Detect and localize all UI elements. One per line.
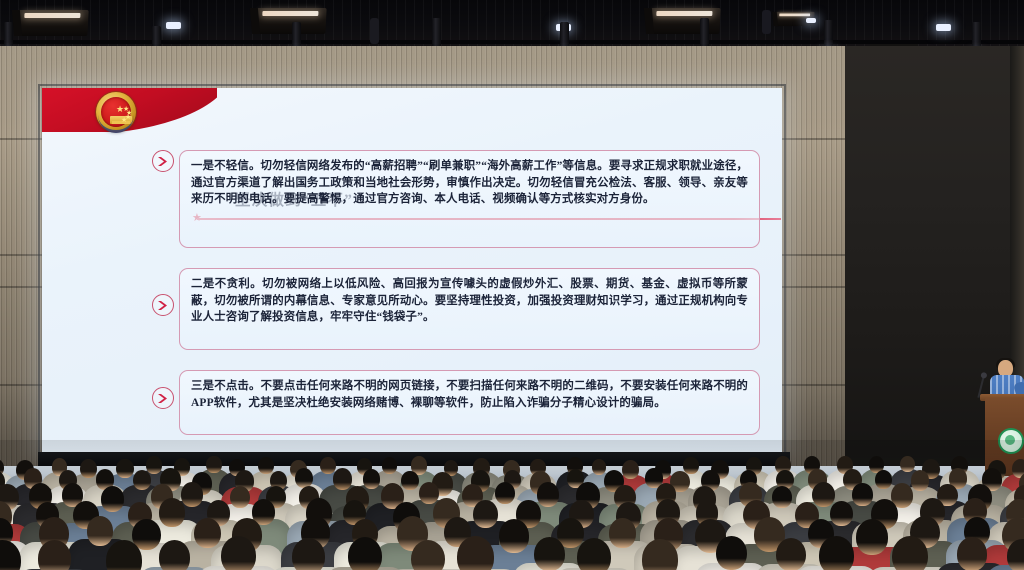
- stage-light-fixture: [255, 8, 326, 34]
- audience-member-head: [716, 536, 747, 570]
- audience-member-head: [106, 540, 142, 570]
- hanging-speaker: [762, 10, 771, 34]
- audience-member-head: [577, 538, 611, 570]
- audience-member-head: [1007, 539, 1024, 570]
- slide-point-box: 一是不轻信。切勿轻信网络发布的“高薪招聘”“刷单兼职”“海外高薪工作”等信息。要…: [179, 150, 760, 248]
- slide-point-box: 三是不点击。不要点击任何来路不明的网页链接，不要扫描任何来路不明的二维码，不要安…: [179, 370, 760, 435]
- projection-screen[interactable]: ★ ★ ★ ★ ★ 坚决做到“五不” ★ 一是不轻信。切勿轻信网络发布的“高薪招…: [42, 88, 782, 456]
- audience-member-head: [159, 540, 190, 570]
- slide-point-text: 一是不轻信。切勿轻信网络发布的“高薪招聘”“刷单兼职”“海外高薪工作”等信息。要…: [191, 158, 748, 208]
- audience-member-head: [221, 536, 256, 570]
- stage-light-fixture: [17, 10, 88, 36]
- chevron-right-circle-icon: [152, 387, 174, 409]
- audience: DON'T ED CLOTHE: [0, 440, 1024, 570]
- ceiling-spotlight: [936, 24, 951, 31]
- slide-point-text: 三是不点击。不要点击任何来路不明的网页链接，不要扫描任何来路不明的二维码，不要安…: [191, 378, 748, 411]
- slide-point-box: 二是不贪利。切勿被网络上以低风险、高回报为宣传噱头的虚假炒外汇、股票、期货、基金…: [179, 268, 760, 350]
- audience-member-head: [642, 539, 679, 570]
- stage-light-fixture: [649, 8, 720, 34]
- audience-member: [795, 536, 878, 570]
- audience-member-head: [457, 536, 494, 570]
- audience-member: [986, 539, 1024, 570]
- audience-member: [431, 536, 520, 570]
- lecture-hall-photo: ★ ★ ★ ★ ★ 坚决做到“五不” ★ 一是不轻信。切勿轻信网络发布的“高薪招…: [0, 0, 1024, 570]
- audience-member-head: [957, 537, 987, 570]
- hanging-speaker: [370, 18, 379, 44]
- audience-member-head: [819, 536, 854, 570]
- audience-member: [197, 536, 280, 570]
- ceiling-spotlight: [806, 18, 816, 23]
- ceiling-spotlight: [166, 22, 181, 29]
- slide-point-text: 二是不贪利。切勿被网络上以低风险、高回报为宣传噱头的虚假炒外汇、股票、期货、基金…: [191, 276, 748, 326]
- audience-member-head: [892, 536, 928, 570]
- china-police-national-emblem-icon: ★ ★ ★ ★ ★: [96, 92, 136, 132]
- audience-member-head: [38, 540, 70, 570]
- chevron-right-circle-icon: [152, 294, 174, 316]
- audience-member: [616, 539, 704, 570]
- chevron-right-circle-icon: [152, 150, 174, 172]
- audience-member-head: [348, 537, 382, 570]
- audience-member-head: [292, 538, 325, 570]
